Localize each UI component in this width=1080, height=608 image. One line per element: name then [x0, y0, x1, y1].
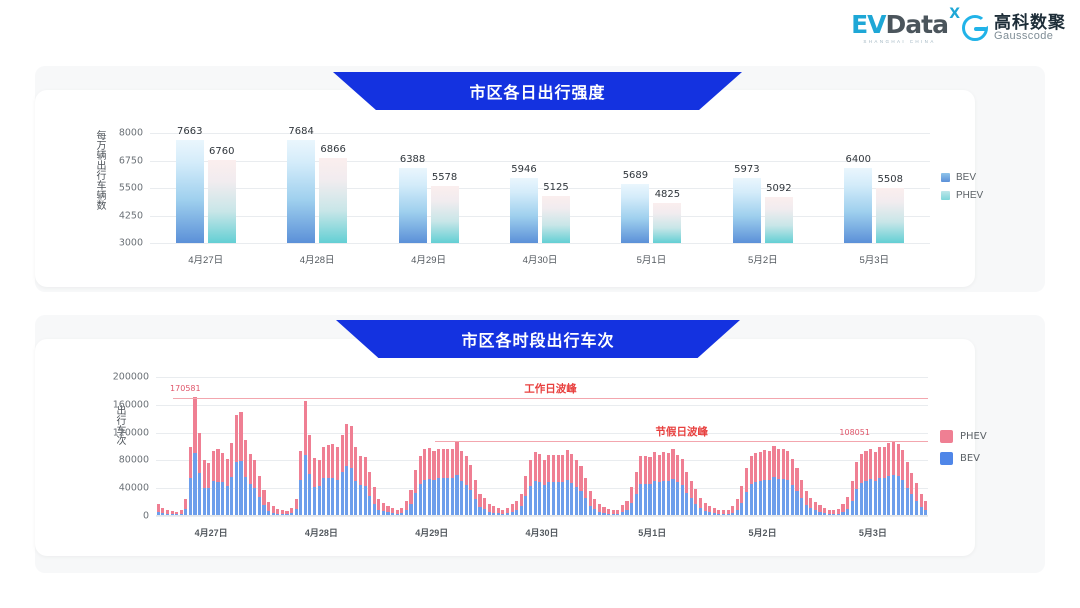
hourly-bar-segment-bev — [772, 477, 775, 516]
hourly-bar-segment-bev — [552, 482, 555, 516]
hourly-bar[interactable] — [520, 494, 523, 516]
hourly-bar-segment-bev — [754, 482, 757, 516]
hourly-bar[interactable] — [423, 449, 426, 516]
hourly-bar[interactable] — [212, 451, 215, 516]
hourly-bar[interactable] — [924, 501, 927, 516]
bar-phev-3[interactable]: 5125 — [542, 196, 570, 243]
hourly-bar[interactable] — [327, 445, 330, 516]
hourly-bar[interactable] — [874, 452, 877, 516]
hourly-bar-segment-phev — [511, 504, 514, 512]
hourly-bar-segment-bev — [658, 482, 661, 516]
hourly-bar-segment-phev — [722, 510, 725, 514]
hourly-bar-segment-phev — [924, 501, 927, 510]
hourly-bar-segment-bev — [239, 461, 242, 516]
hourly-bar[interactable] — [662, 452, 665, 516]
hourly-bar-segment-phev — [244, 440, 247, 477]
hourly-bar[interactable] — [552, 455, 555, 516]
hourly-bar-segment-bev — [759, 481, 762, 516]
hourly-bar-segment-bev — [230, 477, 233, 516]
hourly-bar[interactable] — [699, 498, 702, 516]
hourly-bar[interactable] — [635, 472, 638, 516]
x-axis-tick: 4月28日 — [305, 526, 338, 539]
hourly-bar-segment-bev — [368, 496, 371, 516]
hourly-bar-segment-phev — [759, 452, 762, 481]
y-axis-tick: 160000 — [113, 399, 149, 410]
hourly-bar-segment-phev — [740, 486, 743, 503]
x-axis-tick: 4月28日 — [300, 252, 335, 266]
hourly-bar[interactable] — [538, 454, 541, 516]
hourly-bar[interactable] — [262, 490, 265, 516]
hourly-bar[interactable] — [373, 487, 376, 516]
hourly-bar[interactable] — [469, 465, 472, 516]
hourly-bar-segment-phev — [547, 455, 550, 483]
hourly-bar-segment-phev — [432, 451, 435, 480]
hourly-bar[interactable] — [584, 478, 587, 516]
hourly-bar[interactable] — [198, 433, 201, 516]
hourly-bar-segment-phev — [350, 426, 353, 468]
hourly-bar[interactable] — [658, 455, 661, 516]
hourly-bar-segment-phev — [272, 506, 275, 512]
hourly-bar[interactable] — [869, 449, 872, 516]
hourly-bar-segment-bev — [221, 482, 224, 516]
hourly-bar-segment-phev — [750, 456, 753, 484]
hourly-bar-segment-phev — [777, 449, 780, 479]
hourly-bar[interactable] — [791, 459, 794, 516]
hourly-bar[interactable] — [529, 460, 532, 516]
hourly-bar[interactable] — [630, 487, 633, 516]
hourly-bar-segment-bev — [364, 486, 367, 516]
hourly-bar[interactable] — [800, 480, 803, 516]
bar-phev-2[interactable]: 5578 — [431, 186, 459, 243]
bar-value-label: 7663 — [177, 126, 202, 137]
hourly-bar[interactable] — [750, 456, 753, 516]
hourly-bar[interactable] — [364, 457, 367, 516]
bar-phev-0[interactable]: 6760 — [208, 160, 236, 243]
hourly-bar-segment-bev — [437, 478, 440, 516]
bar-phev-1[interactable]: 6866 — [319, 158, 347, 243]
bar-bev-5[interactable]: 5973 — [733, 178, 761, 243]
hourly-bar-segment-bev — [892, 475, 895, 516]
hourly-bar-segment-bev — [906, 488, 909, 516]
hourly-bar[interactable] — [543, 460, 546, 516]
hourly-bar-segment-phev — [354, 447, 357, 482]
hourly-bar-segment-phev — [644, 456, 647, 483]
hourly-bar[interactable] — [478, 494, 481, 516]
hourly-bar[interactable] — [414, 470, 417, 516]
hourly-bar[interactable] — [920, 494, 923, 516]
hourly-bar-segment-bev — [878, 478, 881, 516]
hourly-bar-segment-phev — [184, 499, 187, 509]
evdata-wordmark: EVDataX — [851, 12, 948, 37]
hourly-bar-segment-phev — [400, 508, 403, 513]
hourly-bar-segment-phev — [772, 446, 775, 478]
y-axis-tick: 200000 — [113, 372, 149, 383]
hourly-bar-segment-phev — [529, 460, 532, 486]
hourly-bar-segment-phev — [336, 447, 339, 480]
hourly-bar[interactable] — [851, 481, 854, 516]
hourly-bar-segment-phev — [373, 487, 376, 504]
hourly-bar-segment-phev — [262, 490, 265, 505]
hourly-bar[interactable] — [368, 472, 371, 516]
hourly-bar-segment-bev — [322, 478, 325, 516]
hourly-bar-segment-bev — [851, 501, 854, 516]
x-axis-tick: 4月27日 — [188, 252, 223, 266]
hourly-bar[interactable] — [460, 451, 463, 516]
hourly-bar-segment-phev — [639, 456, 642, 484]
hourly-bar[interactable] — [685, 472, 688, 516]
legend-swatch-phev-icon — [940, 430, 953, 443]
hourly-bar[interactable] — [547, 455, 550, 516]
x-axis-line — [156, 515, 928, 516]
hourly-bar[interactable] — [883, 447, 886, 517]
hourly-bar-segment-phev — [648, 457, 651, 484]
hourly-bar[interactable] — [681, 459, 684, 516]
hourly-bar-segment-phev — [676, 455, 679, 483]
legend-item-bev[interactable]: BEV — [941, 172, 983, 183]
hourly-bar[interactable] — [267, 502, 270, 516]
hourly-bar-segment-phev — [625, 501, 628, 510]
hourly-bar-segment-phev — [561, 455, 564, 483]
hourly-bar-segment-phev — [295, 499, 298, 509]
hourly-bar-segment-bev — [446, 478, 449, 516]
hourly-bar-segment-phev — [892, 441, 895, 475]
bar-phev-6[interactable]: 5508 — [876, 188, 904, 243]
hourly-bar[interactable] — [763, 450, 766, 516]
hourly-bar[interactable] — [897, 444, 900, 516]
hourly-bar-segment-bev — [639, 484, 642, 516]
hourly-bar[interactable] — [768, 451, 771, 516]
hourly-bar-segment-bev — [474, 499, 477, 516]
evdata-superscript-x: X — [949, 7, 959, 21]
hourly-bar[interactable] — [814, 502, 817, 516]
hourly-bar[interactable] — [575, 460, 578, 516]
hourly-bar-segment-phev — [607, 509, 610, 513]
hourly-bar[interactable] — [855, 462, 858, 516]
hourly-bar[interactable] — [648, 457, 651, 516]
hourly-bar[interactable] — [308, 435, 311, 516]
daily-intensity-plot: 30004250550067508000766367604月27日7684686… — [150, 133, 930, 243]
hourly-bar-segment-phev — [299, 451, 302, 480]
hourly-bar[interactable] — [432, 451, 435, 516]
hourly-bar[interactable] — [534, 452, 537, 516]
hourly-bar[interactable] — [754, 453, 757, 516]
hourly-bar-segment-bev — [745, 492, 748, 516]
hourly-bar[interactable] — [864, 451, 867, 516]
bar-bev-1[interactable]: 7684 — [287, 140, 315, 243]
hourly-bar[interactable] — [350, 426, 353, 516]
hourly-bar[interactable] — [249, 454, 252, 516]
hourly-bar-segment-bev — [791, 485, 794, 516]
hourly-bar[interactable] — [226, 459, 229, 516]
hourly-bar-segment-bev — [451, 478, 454, 516]
hourly-bar[interactable] — [341, 435, 344, 516]
hourly-bar-segment-phev — [359, 456, 362, 485]
hourly-bar-segment-bev — [579, 491, 582, 516]
hourly-bar[interactable] — [740, 486, 743, 516]
bar-value-label: 6388 — [400, 154, 425, 165]
hourly-bar[interactable] — [589, 491, 592, 516]
hourly-bar[interactable] — [203, 460, 206, 516]
hourly-bar[interactable] — [644, 456, 647, 516]
hourly-bar[interactable] — [230, 443, 233, 516]
hourly-bar-segment-bev — [455, 475, 458, 516]
hourly-bar-segment-phev — [157, 504, 160, 512]
hourly-bar[interactable] — [515, 501, 518, 516]
hourly-bar[interactable] — [322, 447, 325, 517]
hourly-bar[interactable] — [653, 452, 656, 516]
hourly-bar-segment-bev — [901, 480, 904, 516]
hourly-bar-segment-phev — [694, 489, 697, 504]
hourly-bar[interactable] — [690, 481, 693, 516]
hourly-bar[interactable] — [465, 456, 468, 516]
hourly-bar-segment-bev — [575, 487, 578, 516]
hourly-bar-segment-phev — [685, 472, 688, 493]
hourly-bar-segment-bev — [253, 488, 256, 516]
hourly-bar[interactable] — [809, 498, 812, 516]
hourly-bar[interactable] — [235, 415, 238, 516]
hourly-trips-plot: 04000080000120000160000200000工作日波峰节假日波峰1… — [156, 377, 928, 516]
hourly-bar-segment-bev — [529, 486, 532, 516]
hourly-bar-segment-phev — [230, 443, 233, 477]
hourly-bar-segment-phev — [216, 449, 219, 482]
hourly-bar[interactable] — [377, 499, 380, 516]
hourly-bar[interactable] — [667, 453, 670, 516]
hourly-bar-segment-bev — [189, 478, 192, 516]
legend-swatch-bev-icon — [940, 452, 953, 465]
hourly-bar-segment-phev — [267, 502, 270, 511]
hourly-bar-segment-phev — [575, 460, 578, 487]
x-axis-tick: 5月2日 — [749, 526, 777, 539]
legend-item-bev[interactable]: BEV — [940, 452, 987, 465]
hourly-bar[interactable] — [561, 455, 564, 516]
hourly-bar[interactable] — [446, 449, 449, 516]
peak-value-label: 108051 — [839, 428, 870, 437]
legend-label-phev: PHEV — [956, 190, 983, 201]
hourly-bar-segment-bev — [648, 484, 651, 516]
hourly-bar[interactable] — [451, 449, 454, 516]
hourly-bar-segment-bev — [524, 496, 527, 516]
hourly-bar[interactable] — [557, 455, 560, 516]
hourly-bar[interactable] — [244, 440, 247, 516]
hourly-bar[interactable] — [474, 480, 477, 516]
bar-bev-3[interactable]: 5946 — [510, 178, 538, 243]
hourly-bar-segment-bev — [543, 485, 546, 516]
hourly-bar-segment-phev — [658, 455, 661, 483]
hourly-bar-segment-bev — [653, 481, 656, 516]
hourly-bar-segment-phev — [671, 449, 674, 479]
hourly-bar-segment-bev — [750, 484, 753, 516]
hourly-bar[interactable] — [892, 441, 895, 516]
hourly-bar-segment-phev — [883, 447, 886, 478]
evdata-logo: EVDataX SHANGHAI CHINA — [851, 12, 948, 45]
hourly-bar-segment-bev — [786, 480, 789, 516]
hourly-bar[interactable] — [915, 483, 918, 516]
hourly-bar-segment-phev — [180, 510, 183, 514]
hourly-bar-segment-phev — [189, 447, 192, 479]
x-axis-tick: 4月30日 — [525, 526, 558, 539]
hourly-bar[interactable] — [419, 456, 422, 516]
bar-bev-2[interactable]: 6388 — [399, 168, 427, 243]
hourly-bar[interactable] — [437, 449, 440, 516]
hourly-bar-segment-phev — [612, 510, 615, 514]
hourly-bar[interactable] — [221, 453, 224, 516]
hourly-bar-segment-bev — [671, 479, 674, 516]
hourly-bar[interactable] — [318, 460, 321, 516]
y-axis-tick: 40000 — [119, 483, 149, 494]
hourly-bar[interactable] — [759, 452, 762, 516]
hourly-bar[interactable] — [901, 450, 904, 516]
hourly-bar[interactable] — [772, 446, 775, 516]
hourly-bar-segment-phev — [593, 499, 596, 509]
hourly-bar-segment-bev — [910, 494, 913, 516]
hourly-bar-segment-phev — [290, 508, 293, 513]
bar-value-label: 6866 — [320, 144, 345, 155]
hourly-bar-segment-bev — [864, 481, 867, 516]
hourly-bar[interactable] — [786, 451, 789, 516]
hourly-bar-segment-phev — [446, 449, 449, 479]
hourly-bar[interactable] — [745, 468, 748, 516]
hourly-bar-segment-phev — [451, 449, 454, 479]
hourly-bar-segment-bev — [662, 481, 665, 516]
hourly-bar-segment-phev — [308, 435, 311, 474]
hourly-bar[interactable] — [193, 397, 196, 516]
bar-value-label: 7684 — [288, 126, 313, 137]
hourly-bar[interactable] — [207, 463, 210, 516]
hourly-bar[interactable] — [805, 491, 808, 516]
hourly-bar[interactable] — [887, 443, 890, 516]
hourly-bar-segment-bev — [469, 490, 472, 516]
hourly-bar[interactable] — [579, 466, 582, 516]
hourly-bar[interactable] — [331, 444, 334, 516]
x-axis-tick: 5月1日 — [637, 252, 667, 266]
hourly-bar[interactable] — [359, 456, 362, 516]
bar-value-label: 5946 — [511, 164, 536, 175]
hourly-bar[interactable] — [795, 468, 798, 516]
hourly-bar-segment-phev — [920, 494, 923, 506]
annotation-label: 节假日波峰 — [655, 424, 708, 439]
hourly-bar[interactable] — [299, 451, 302, 516]
hourly-bar[interactable] — [910, 473, 913, 516]
hourly-bar[interactable] — [455, 442, 458, 516]
hourly-bar-segment-bev — [768, 480, 771, 516]
hourly-bar[interactable] — [639, 456, 642, 516]
hourly-bar-segment-bev — [570, 483, 573, 516]
hourly-bar[interactable] — [442, 449, 445, 516]
y-axis-tick: 0 — [143, 511, 149, 522]
hourly-bar-segment-bev — [432, 480, 435, 516]
hourly-bar-segment-phev — [786, 451, 789, 480]
hourly-bar[interactable] — [336, 447, 339, 516]
hourly-bar-segment-phev — [405, 501, 408, 510]
hourly-bar-segment-phev — [598, 504, 601, 512]
hourly-bar-segment-phev — [465, 456, 468, 485]
hourly-bar[interactable] — [428, 448, 431, 516]
hourly-bar[interactable] — [566, 450, 569, 516]
hourly-bar-segment-phev — [423, 449, 426, 480]
hourly-bar[interactable] — [846, 497, 849, 516]
hourly-bar-segment-phev — [437, 449, 440, 479]
hourly-bar[interactable] — [777, 449, 780, 516]
hourly-bar[interactable] — [671, 449, 674, 516]
hourly-bar-segment-bev — [681, 485, 684, 516]
bar-phev-5[interactable]: 5092 — [765, 197, 793, 243]
hourly-bar[interactable] — [216, 449, 219, 516]
bar-phev-4[interactable]: 4825 — [653, 203, 681, 243]
x-axis-tick: 4月30日 — [523, 252, 558, 266]
hourly-bar-segment-phev — [874, 452, 877, 481]
hourly-bar-segment-phev — [455, 442, 458, 475]
hourly-bar[interactable] — [253, 460, 256, 516]
hourly-bar[interactable] — [409, 490, 412, 516]
hourly-bar[interactable] — [345, 424, 348, 516]
hourly-bar-segment-bev — [216, 482, 219, 516]
hourly-bar-segment-phev — [818, 505, 821, 512]
gausscode-en-name: Gausscode — [994, 31, 1066, 43]
hourly-bar-segment-phev — [327, 445, 330, 478]
hourly-bar-segment-bev — [566, 480, 569, 516]
hourly-bar-segment-bev — [465, 485, 468, 516]
hourly-bar[interactable] — [878, 447, 881, 516]
hourly-bar-segment-phev — [474, 480, 477, 500]
bar-bev-0[interactable]: 7663 — [176, 140, 204, 243]
hourly-bar-segment-bev — [442, 478, 445, 516]
bar-value-label: 5092 — [766, 183, 791, 194]
hourly-bar[interactable] — [625, 501, 628, 516]
hourly-bar[interactable] — [184, 499, 187, 516]
hourly-bar[interactable] — [304, 401, 307, 516]
hourly-bar-segment-bev — [308, 474, 311, 516]
hourly-bar-segment-phev — [878, 447, 881, 478]
hourly-bar-segment-bev — [860, 483, 863, 516]
hourly-bar-segment-phev — [414, 470, 417, 493]
hourly-bar-segment-phev — [823, 508, 826, 513]
hourly-bar[interactable] — [524, 476, 527, 516]
hourly-bar[interactable] — [782, 449, 785, 516]
bar-value-label: 5125 — [543, 182, 568, 193]
hourly-bar[interactable] — [258, 476, 261, 516]
hourly-bar[interactable] — [189, 447, 192, 517]
legend-item-phev[interactable]: PHEV — [940, 430, 987, 443]
hourly-bar-segment-phev — [322, 447, 325, 479]
hourly-bar[interactable] — [906, 462, 909, 516]
hourly-bar[interactable] — [483, 498, 486, 516]
hourly-bar-segment-phev — [345, 424, 348, 467]
hourly-bar[interactable] — [694, 489, 697, 516]
hourly-bar[interactable] — [239, 412, 242, 516]
hourly-bar[interactable] — [570, 454, 573, 516]
hourly-bar[interactable] — [736, 499, 739, 516]
hourly-bar[interactable] — [313, 458, 316, 516]
bar-bev-6[interactable]: 6400 — [844, 168, 872, 243]
hourly-bar[interactable] — [593, 499, 596, 516]
dashboard-page: EVDataX SHANGHAI CHINA 高科数聚 Gausscode 市区… — [0, 0, 1080, 608]
hourly-bar[interactable] — [405, 501, 408, 516]
hourly-bar-segment-bev — [428, 479, 431, 516]
hourly-bar-segment-phev — [630, 487, 633, 503]
hourly-bar-segment-phev — [258, 476, 261, 498]
hourly-bar-segment-phev — [864, 451, 867, 481]
hourly-bar[interactable] — [295, 499, 298, 516]
hourly-bar-segment-bev — [336, 480, 339, 516]
hourly-bar[interactable] — [354, 447, 357, 517]
legend-item-phev[interactable]: PHEV — [941, 190, 983, 201]
hourly-bar[interactable] — [676, 455, 679, 516]
x-axis-tick: 5月2日 — [748, 252, 778, 266]
hourly-bar-segment-phev — [460, 451, 463, 481]
hourly-bar[interactable] — [860, 454, 863, 516]
hourly-trips-legend: PHEV BEV — [940, 430, 987, 474]
bar-bev-4[interactable]: 5689 — [621, 184, 649, 243]
